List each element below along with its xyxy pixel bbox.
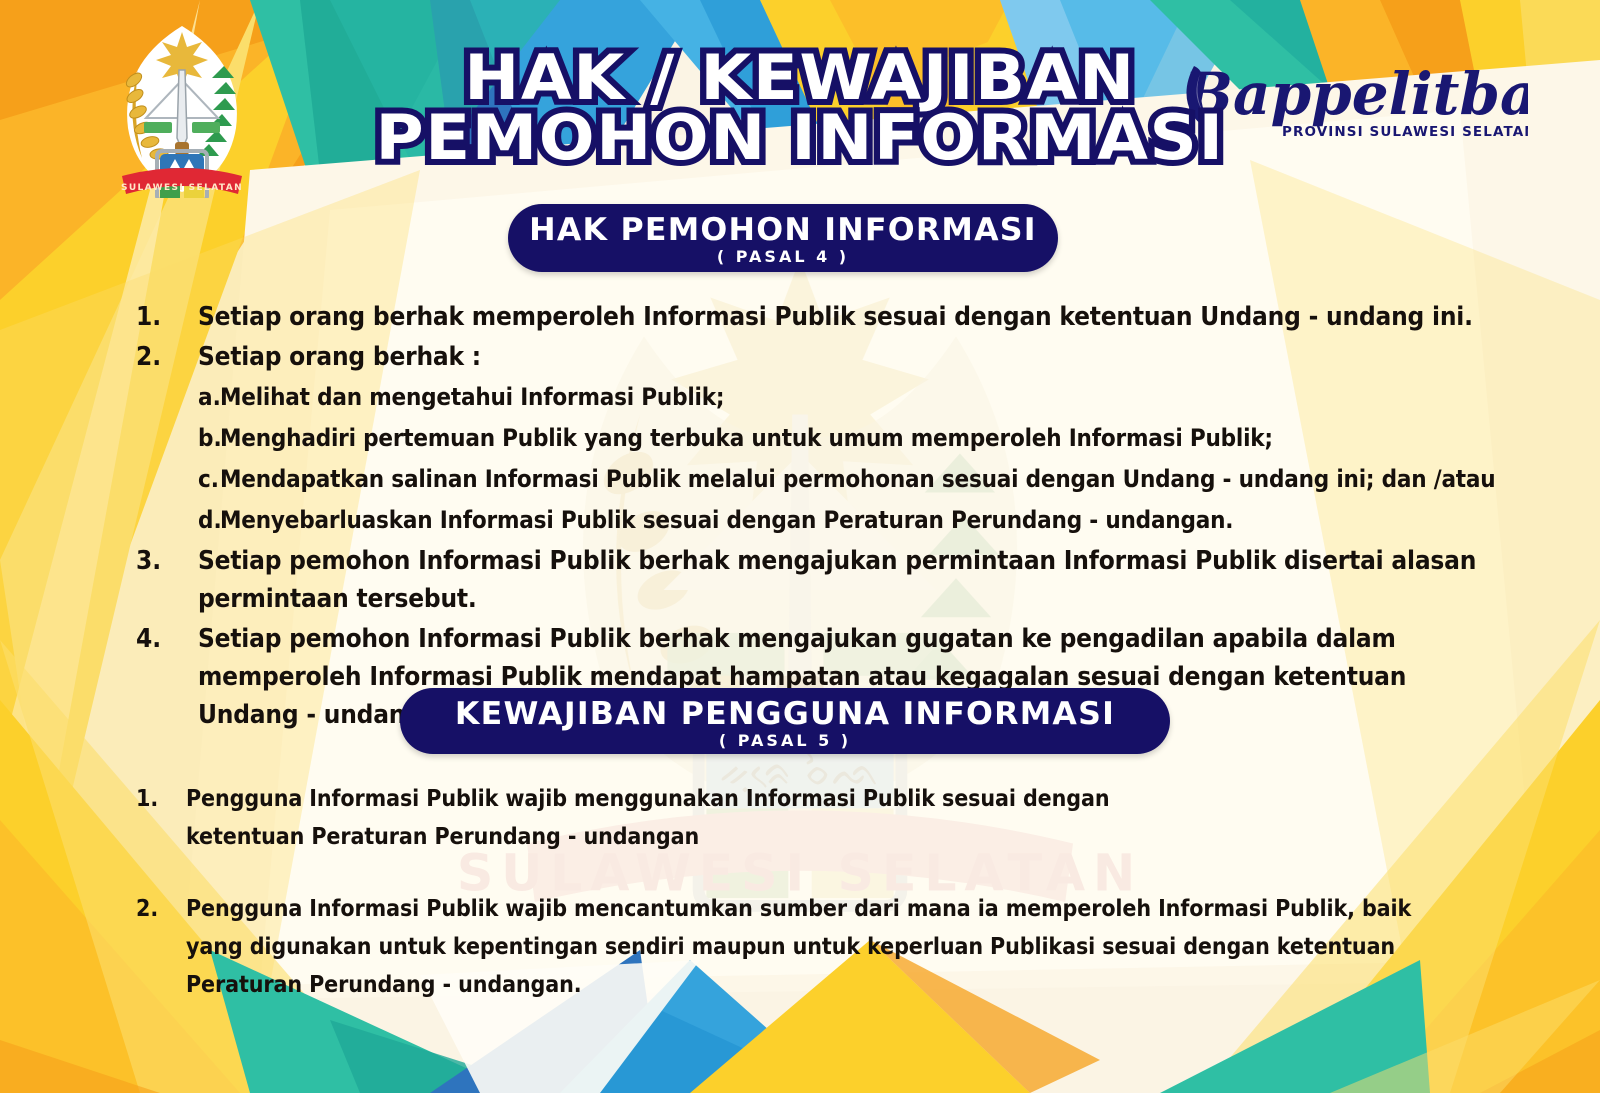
list-item-marker: 1. (136, 780, 186, 818)
list-item-text: Setiap orang berhak memperoleh Informasi… (198, 298, 1473, 336)
list-item-text: Mendapatkan salinan Informasi Publik mel… (220, 460, 1495, 499)
list-item-marker: b. (198, 419, 220, 458)
list-item: 2. Pengguna Informasi Publik wajib menca… (136, 890, 1556, 1004)
kewajiban-list: 1. Pengguna Informasi Publik wajib mengg… (136, 780, 1556, 1038)
list-item-text: Pengguna Informasi Publik wajib mengguna… (186, 780, 1216, 856)
list-item-text: Melihat dan mengetahui Informasi Publik; (220, 378, 724, 417)
section-heading-kewajiban: KEWAJIBAN PENGGUNA INFORMASI ( PASAL 5 ) (400, 688, 1170, 754)
page-title-line-1: HAK / KEWAJIBAN (0, 48, 1600, 108)
list-item: a. Melihat dan mengetahui Informasi Publ… (136, 378, 1556, 417)
page-title-line-2: PEMOHON INFORMASI (0, 108, 1600, 168)
list-item-text: Menyebarluaskan Informasi Publik sesuai … (220, 501, 1233, 540)
list-item-marker: 4. (136, 620, 198, 658)
list-item-marker: c. (198, 460, 220, 499)
list-item-marker: 1. (136, 298, 198, 336)
list-item: 2. Setiap orang berhak : (136, 338, 1556, 376)
list-item-text: Menghadiri pertemuan Publik yang terbuka… (220, 419, 1273, 458)
section-heading-hak-label: HAK PEMOHON INFORMASI (503, 213, 1064, 247)
section-heading-kewajiban-article: ( PASAL 5 ) (400, 731, 1170, 751)
list-item: b. Menghadiri pertemuan Publik yang terb… (136, 419, 1556, 458)
section-heading-hak-article: ( PASAL 4 ) (508, 247, 1058, 267)
list-item-text: Setiap orang berhak : (198, 338, 481, 376)
list-item: 3. Setiap pemohon Informasi Publik berha… (136, 542, 1556, 618)
list-item-marker: 2. (136, 338, 198, 376)
list-item: 1. Pengguna Informasi Publik wajib mengg… (136, 780, 1556, 856)
crest-banner-label: SULAWESI SELATAN (121, 183, 243, 193)
list-item-marker: a. (198, 378, 220, 417)
list-item: 1. Setiap orang berhak memperoleh Inform… (136, 298, 1556, 336)
section-heading-hak: HAK PEMOHON INFORMASI ( PASAL 4 ) (508, 204, 1058, 272)
list-item-text: Pengguna Informasi Publik wajib mencantu… (186, 890, 1441, 1004)
list-item-marker: 2. (136, 890, 186, 928)
list-item-marker: d. (198, 501, 220, 540)
list-item: d. Menyebarluaskan Informasi Publik sesu… (136, 501, 1556, 540)
list-item: c. Mendapatkan salinan Informasi Publik … (136, 460, 1556, 499)
list-item-text: Setiap pemohon Informasi Publik berhak m… (198, 542, 1556, 618)
poster-canvas: SULAWESI SELATAN ᨀᨘᨑᨙ ᨔᨛᨒ (0, 0, 1600, 1093)
list-item-marker: 3. (136, 542, 198, 580)
section-heading-kewajiban-label: KEWAJIBAN PENGGUNA INFORMASI (392, 697, 1177, 731)
page-title: HAK / KEWAJIBAN PEMOHON INFORMASI (0, 48, 1600, 168)
hak-list: 1. Setiap orang berhak memperoleh Inform… (136, 298, 1556, 736)
